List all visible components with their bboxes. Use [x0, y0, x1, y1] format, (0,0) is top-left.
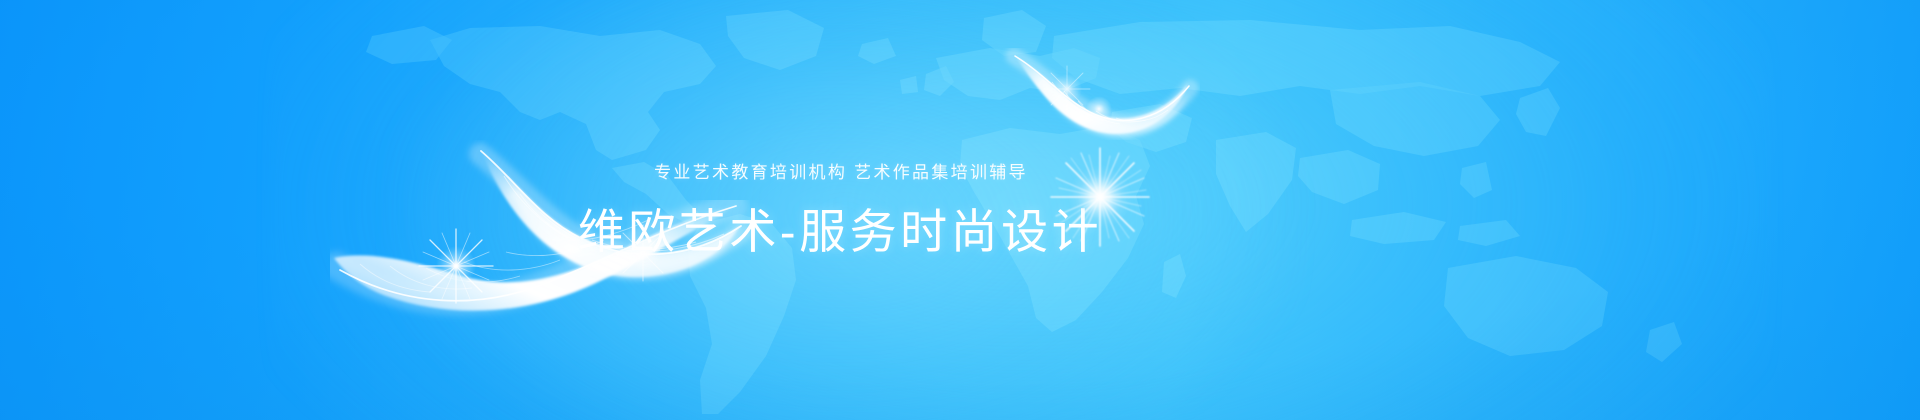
hero-banner: 专业艺术教育培训机构 艺术作品集培训辅导 维欧艺术-服务时尚设计: [0, 0, 1920, 420]
hero-text-block: 专业艺术教育培训机构 艺术作品集培训辅导 维欧艺术-服务时尚设计: [0, 0, 1680, 420]
hero-title: 维欧艺术-服务时尚设计: [578, 207, 1102, 257]
hero-subtitle: 专业艺术教育培训机构 艺术作品集培训辅导: [652, 164, 1028, 181]
